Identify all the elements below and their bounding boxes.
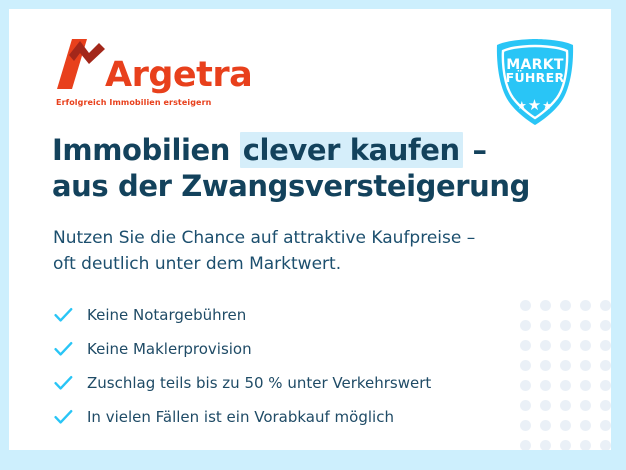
subheadline-line-2: oft deutlich unter dem Marktwert.	[53, 251, 475, 277]
dot	[520, 420, 531, 431]
dot	[560, 440, 571, 451]
dot	[540, 300, 551, 311]
dot	[600, 440, 611, 451]
headline-text-after: –	[463, 133, 487, 167]
headline-line-1: Immobilien clever kaufen –	[52, 133, 530, 169]
dot	[580, 340, 591, 351]
badge-stars: ★★★	[489, 98, 581, 113]
dot	[560, 340, 571, 351]
dot	[580, 360, 591, 371]
dot	[560, 360, 571, 371]
check-icon	[54, 409, 80, 425]
dot	[600, 320, 611, 331]
dot	[540, 320, 551, 331]
checklist-item: Zuschlag teils bis zu 50 % unter Verkehr…	[54, 366, 431, 400]
argetra-a-roof-icon	[55, 39, 107, 94]
check-icon	[54, 307, 80, 323]
promo-banner: Argetra Erfolgreich Immobilien ersteiger…	[0, 0, 626, 470]
frame-border-top	[0, 0, 626, 9]
checklist-item-label: Zuschlag teils bis zu 50 % unter Verkehr…	[87, 376, 431, 391]
dot	[600, 380, 611, 391]
dot	[580, 300, 591, 311]
frame-border-left	[0, 0, 9, 470]
headline-line-2: aus der Zwangsversteigerung	[52, 169, 530, 205]
dot	[580, 400, 591, 411]
star-icon-left: ★	[517, 100, 528, 112]
dot	[520, 300, 531, 311]
checklist-item-label: Keine Notargebühren	[87, 308, 246, 323]
dot	[520, 340, 531, 351]
headline-text-before: Immobilien	[52, 133, 240, 167]
dot	[560, 420, 571, 431]
check-icon	[54, 375, 80, 391]
dot	[600, 400, 611, 411]
dot	[600, 340, 611, 351]
dot	[540, 360, 551, 371]
dot	[540, 420, 551, 431]
dot	[540, 400, 551, 411]
dot	[560, 300, 571, 311]
dot	[540, 440, 551, 451]
dot	[560, 380, 571, 391]
dot	[600, 420, 611, 431]
dot	[580, 440, 591, 451]
checklist-item: In vielen Fällen ist ein Vorabkauf mögli…	[54, 400, 431, 434]
check-icon	[54, 341, 80, 357]
headline: Immobilien clever kaufen – aus der Zwang…	[52, 133, 530, 205]
checklist-item: Keine Notargebühren	[54, 298, 431, 332]
subheadline: Nutzen Sie die Chance auf attraktive Kau…	[53, 225, 475, 278]
dot	[540, 340, 551, 351]
dot	[520, 360, 531, 371]
dot	[520, 380, 531, 391]
logo-wordmark: Argetra	[105, 58, 252, 93]
dot	[580, 420, 591, 431]
dot	[560, 320, 571, 331]
dot	[520, 400, 531, 411]
dot	[600, 360, 611, 371]
dot	[520, 320, 531, 331]
dot	[600, 300, 611, 311]
market-leader-badge: MARKT FÜHRER ★★★	[489, 36, 581, 128]
logo-tagline: Erfolgreich Immobilien ersteigern	[56, 98, 252, 107]
dot	[580, 380, 591, 391]
shield-icon	[489, 36, 581, 128]
dot	[520, 440, 531, 451]
star-icon-center: ★	[528, 97, 542, 114]
star-icon-right: ★	[542, 100, 553, 112]
checklist-item: Keine Maklerprovision	[54, 332, 431, 366]
subheadline-line-1: Nutzen Sie die Chance auf attraktive Kau…	[53, 225, 475, 251]
checklist-item-label: In vielen Fällen ist ein Vorabkauf mögli…	[87, 410, 394, 425]
dot	[540, 380, 551, 391]
decorative-dot-grid	[520, 300, 620, 460]
argetra-logo[interactable]: Argetra Erfolgreich Immobilien ersteiger…	[55, 44, 252, 107]
headline-highlight: clever kaufen	[240, 132, 463, 168]
dot	[580, 320, 591, 331]
checklist-item-label: Keine Maklerprovision	[87, 342, 252, 357]
benefits-checklist: Keine NotargebührenKeine Maklerprovision…	[54, 298, 431, 434]
dot	[560, 400, 571, 411]
